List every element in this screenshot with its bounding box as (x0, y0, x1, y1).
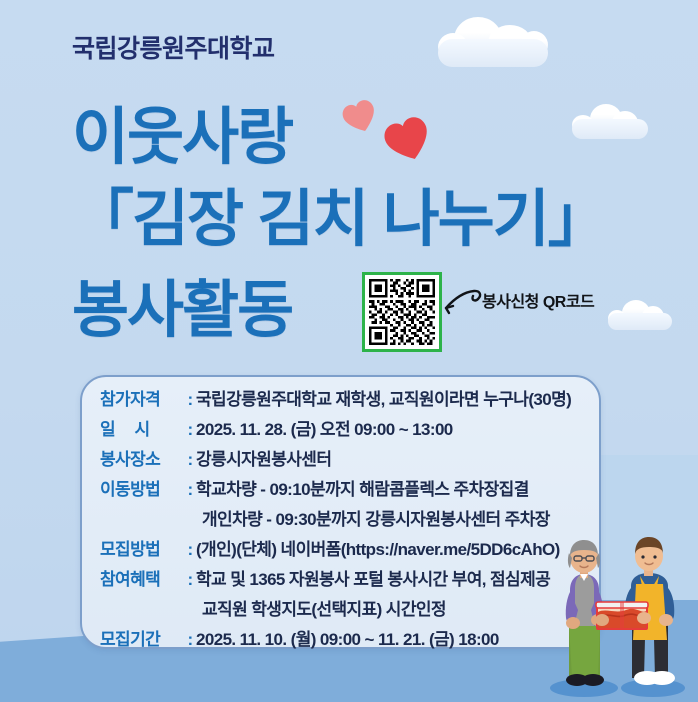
info-row: 이동방법:학교차량 - 09:10분까지 해람콤플렉스 주차장집결 (100, 475, 600, 505)
info-list: 참가자격:국립강릉원주대학교 재학생, 교직원이라면 누구나(30명)일 시:2… (100, 385, 600, 655)
info-row-value: 강릉시자원봉사센터 (196, 445, 600, 470)
info-row-value: 2025. 11. 28. (금) 오전 09:00 ~ 13:00 (196, 415, 600, 440)
info-row: 참가자격:국립강릉원주대학교 재학생, 교직원이라면 누구나(30명) (100, 385, 600, 415)
cloud-icon (608, 300, 672, 330)
volunteer-illustration (536, 528, 698, 702)
info-row-label: 참가자격 (100, 385, 184, 410)
info-row-colon: : (184, 480, 196, 500)
poster-title-line-3: 봉사활동 (72, 259, 292, 349)
info-row-colon: : (184, 450, 196, 470)
cloud-icon (438, 15, 548, 67)
info-row-colon: : (184, 540, 196, 560)
info-row-label: 봉사장소 (100, 445, 184, 470)
info-row-colon: : (184, 630, 196, 650)
info-row: 봉사장소:강릉시자원봉사센터 (100, 445, 600, 475)
info-row: 모집기간:2025. 11. 10. (월) 09:00 ~ 11. 21. (… (100, 625, 600, 655)
info-row-colon: : (184, 420, 196, 440)
info-row-label: 모집방법 (100, 535, 184, 560)
info-row-label: 참여혜택 (100, 565, 184, 590)
info-row-label: 모집기간 (100, 625, 184, 650)
info-row: :교직원 학생지도(선택지표) 시간인정 (100, 595, 600, 625)
info-row: 참여혜택:학교 및 1365 자원봉사 포털 봉사시간 부여, 점심제공 (100, 565, 600, 595)
info-row-value: 국립강릉원주대학교 재학생, 교직원이라면 누구나(30명) (196, 385, 600, 410)
info-row-value: 개인차량 - 09:30분까지 강릉시자원봉사센터 주차장 (196, 505, 600, 530)
info-row-value: 학교차량 - 09:10분까지 해람콤플렉스 주차장집결 (196, 475, 600, 500)
info-row: 일 시:2025. 11. 28. (금) 오전 09:00 ~ 13:00 (100, 415, 600, 445)
info-row-label: 일 시 (100, 415, 184, 440)
poster-title-line-1: 이웃사랑 (72, 86, 292, 176)
info-row: :개인차량 - 09:30분까지 강릉시자원봉사센터 주차장 (100, 505, 600, 535)
info-row-colon: : (184, 570, 196, 590)
curved-arrow-icon (444, 288, 486, 320)
qr-code[interactable] (362, 272, 442, 352)
cloud-icon (572, 103, 648, 139)
organization-name: 국립강릉원주대학교 (72, 29, 275, 65)
info-row: 모집방법:(개인)(단체) 네이버폼(https://naver.me/5DD6… (100, 535, 600, 565)
qr-code-label: 봉사신청 QR코드 (482, 288, 594, 312)
info-row-label: 이동방법 (100, 475, 184, 500)
poster-root: 국립강릉원주대학교 이웃사랑 「김장 김치 나누기」 봉사활동 (0, 0, 698, 702)
info-row-colon: : (184, 390, 196, 410)
poster-title-line-2: 「김장 김치 나누기」 (72, 168, 608, 258)
